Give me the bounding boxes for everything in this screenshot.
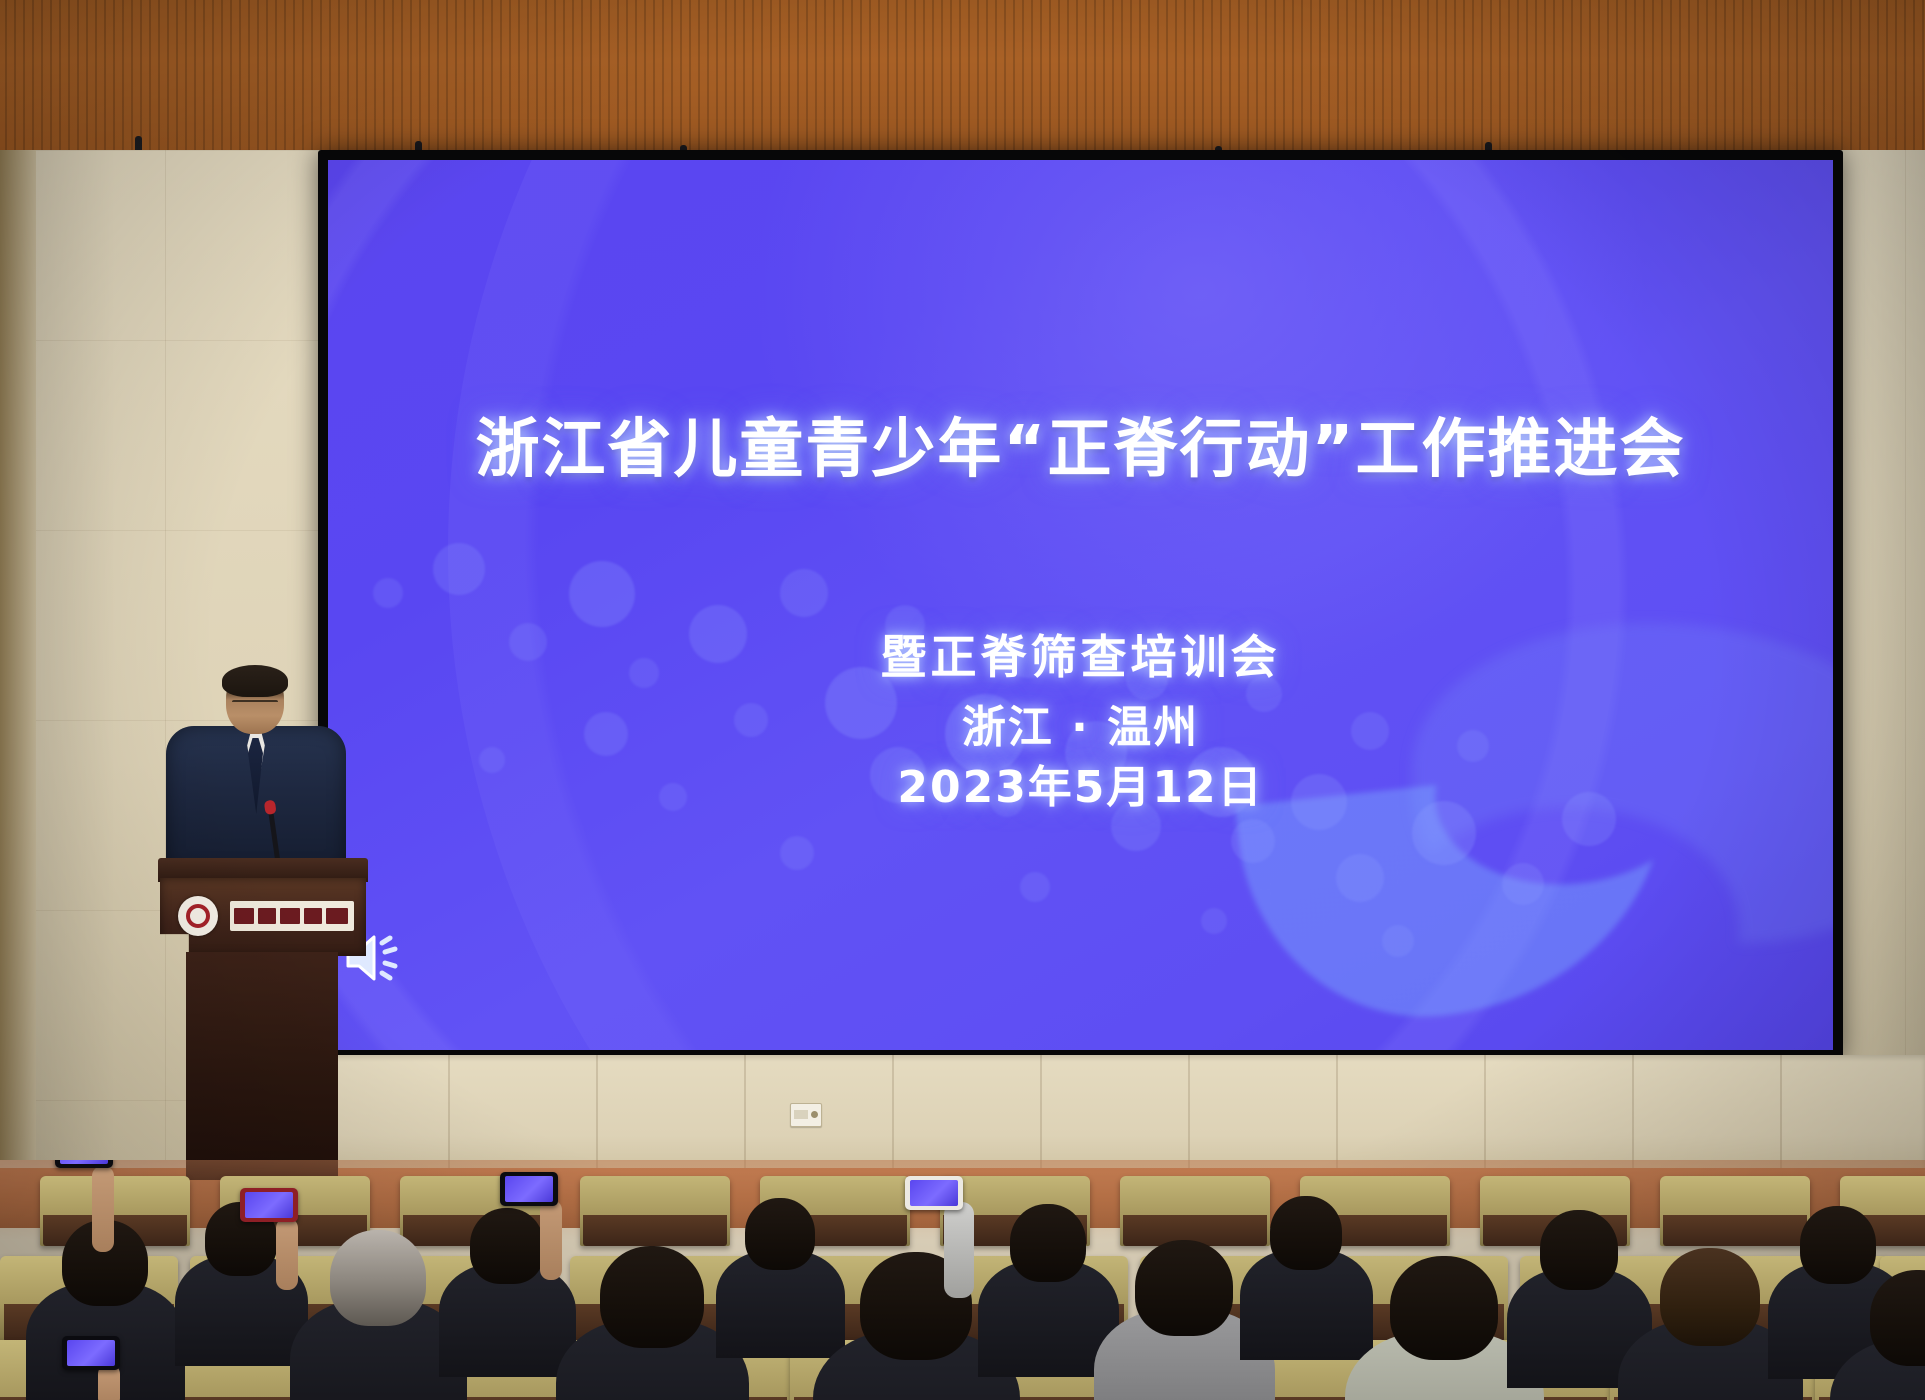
audience-person-head bbox=[1135, 1240, 1233, 1336]
screen-bubble-20 bbox=[1231, 819, 1275, 863]
audience-person-head bbox=[745, 1198, 815, 1270]
presenter-glasses bbox=[232, 700, 278, 712]
attendee-phone bbox=[62, 1336, 120, 1370]
audience-person-head bbox=[1270, 1196, 1342, 1270]
screen-bubble-33 bbox=[1382, 925, 1414, 957]
raised-arm bbox=[92, 1166, 114, 1252]
screen-bubble-32 bbox=[1201, 908, 1227, 934]
screen-bubble-1 bbox=[433, 543, 485, 595]
audience-person-head bbox=[1540, 1210, 1618, 1290]
audience-seat bbox=[580, 1176, 730, 1246]
audience-person-head bbox=[330, 1230, 426, 1326]
audience-person-head bbox=[1800, 1206, 1876, 1284]
audience-person-head bbox=[470, 1208, 544, 1284]
screen-bubble-31 bbox=[1020, 872, 1050, 902]
audience bbox=[0, 1160, 1925, 1400]
led-screen: 浙江省儿童青少年“正脊行动”工作推进会 暨正脊筛查培训会 浙江 · 温州 202… bbox=[328, 160, 1833, 1050]
attendee-phone bbox=[240, 1188, 298, 1222]
raised-arm bbox=[944, 1202, 974, 1298]
auditorium-photo: 浙江省儿童青少年“正脊行动”工作推进会 暨正脊筛查培训会 浙江 · 温州 202… bbox=[0, 0, 1925, 1400]
led-screen-frame: 浙江省儿童青少年“正脊行动”工作推进会 暨正脊筛查培训会 浙江 · 温州 202… bbox=[318, 150, 1843, 1062]
institution-seal-icon bbox=[178, 896, 218, 936]
screen-bubble-3 bbox=[569, 561, 635, 627]
lectern bbox=[150, 800, 390, 1180]
screen-location-date: 浙江 · 温州 2023年5月12日 bbox=[328, 698, 1833, 818]
raised-arm bbox=[540, 1200, 562, 1280]
screen-title-line1: 浙江省儿童青少年“正脊行动”工作推进会 bbox=[328, 408, 1833, 492]
attendee-phone bbox=[905, 1176, 963, 1210]
audience-seat bbox=[1660, 1176, 1810, 1246]
left-wall-edge bbox=[0, 150, 36, 1160]
wall-outlet-plate-0 bbox=[790, 1103, 822, 1127]
screen-bubble-26 bbox=[1502, 863, 1544, 905]
attendee-phone bbox=[55, 1160, 113, 1168]
audience-person-head bbox=[1390, 1256, 1498, 1360]
audience-seat bbox=[1120, 1176, 1270, 1246]
screen-title: 浙江省儿童青少年“正脊行动”工作推进会 bbox=[328, 408, 1833, 492]
screen-date: 2023年5月12日 bbox=[328, 758, 1833, 818]
screen-bubble-8 bbox=[780, 569, 828, 617]
audience-person-head bbox=[600, 1246, 704, 1348]
audience-person-head bbox=[1010, 1204, 1086, 1282]
screen-title-line2: 暨正脊筛查培训会 bbox=[328, 626, 1833, 688]
raised-arm bbox=[276, 1218, 298, 1290]
institution-nameplate bbox=[230, 901, 354, 931]
presenter-hair bbox=[222, 665, 288, 697]
attendee-phone bbox=[500, 1172, 558, 1206]
screen-bubble-0 bbox=[373, 578, 403, 608]
stage-back-wall bbox=[300, 1055, 1925, 1170]
lectern-body bbox=[186, 952, 338, 1180]
audience-person-head bbox=[1660, 1248, 1760, 1346]
screen-bubble-30 bbox=[780, 836, 814, 870]
screen-location: 浙江 · 温州 bbox=[328, 698, 1833, 758]
